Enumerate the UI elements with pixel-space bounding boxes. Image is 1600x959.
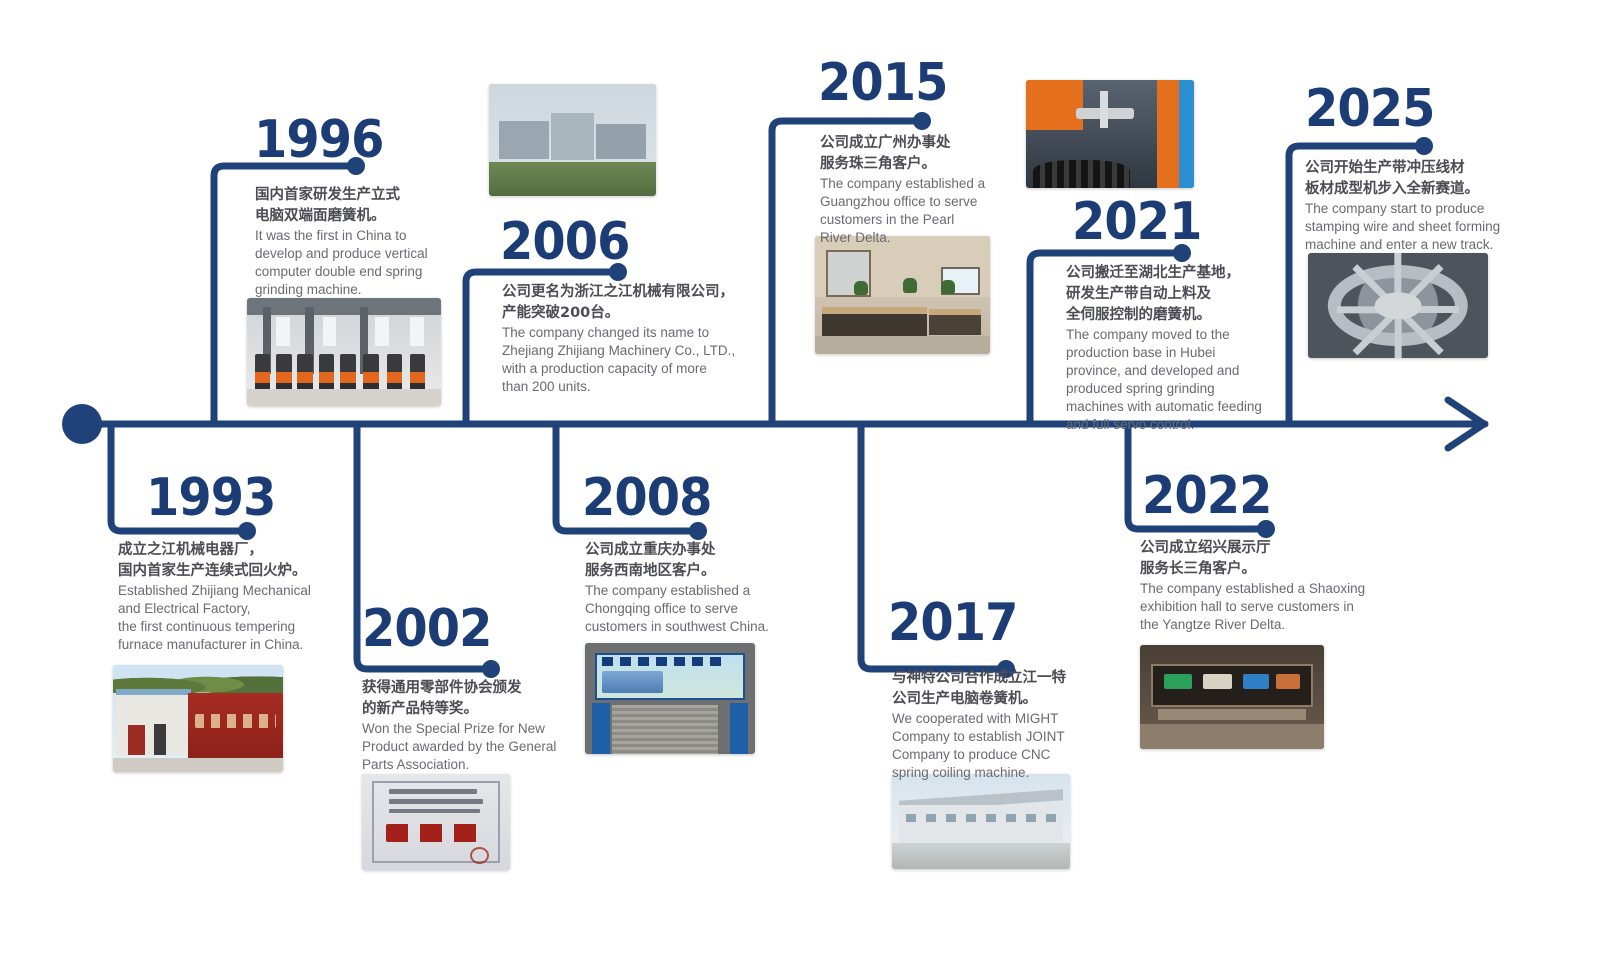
event-cn-2022: 公司成立绍兴展示厅 服务长三角客户。 (1140, 538, 1390, 580)
event-cn-2025: 公司开始生产带冲压线材 板材成型机步入全新赛道。 (1305, 158, 1520, 200)
year-label-1996: 1996 (254, 114, 383, 166)
event-en-2021: The company moved to the production base… (1066, 326, 1284, 434)
photo-2015-guangzhou-office (815, 236, 990, 354)
event-en-1996: It was the first in China to develop and… (255, 227, 455, 299)
year-label-2002: 2002 (362, 603, 491, 655)
timeline-start-dot (62, 404, 102, 444)
event-cn-1996: 国内首家研发生产立式 电脑双端面磨簧机。 (255, 185, 455, 227)
event-text-1993: 成立之江机械电器厂， 国内首家生产连续式回火炉。 Established Zhi… (118, 540, 328, 654)
year-label-1993: 1993 (146, 472, 275, 524)
year-label-2022: 2022 (1142, 470, 1271, 522)
year-label-2008: 2008 (582, 472, 711, 524)
year-label-2021: 2021 (1072, 196, 1201, 248)
node-dot-2002 (482, 660, 500, 678)
event-text-2002: 获得通用零部件协会颁发 的新产品特等奖。 Won the Special Pri… (362, 678, 577, 774)
photo-2002-award-certificate (362, 774, 510, 870)
photo-1996-campus-aerial (489, 84, 656, 196)
photo-1996-workshop-floor (247, 298, 441, 406)
event-text-2021: 公司搬迁至湖北生产基地， 研发生产带自动上料及 全伺服控制的磨簧机。 The c… (1066, 263, 1284, 435)
year-label-2006: 2006 (500, 216, 629, 268)
event-text-2006: 公司更名为浙江之江机械有限公司， 产能突破200台。 The company c… (502, 282, 742, 396)
event-text-2017: 与神特公司合作成立江一特 公司生产电脑卷簧机。 We cooperated wi… (892, 668, 1087, 782)
event-en-2022: The company established a Shaoxing exhib… (1140, 580, 1390, 634)
photo-2008-chongqing-office (585, 643, 755, 754)
event-cn-2015: 公司成立广州办事处 服务珠三角客户。 (820, 133, 1010, 175)
photo-2017-joint-factory (892, 774, 1070, 869)
event-en-2008: The company established a Chongqing offi… (585, 582, 790, 636)
event-text-2025: 公司开始生产带冲压线材 板材成型机步入全新赛道。 The company sta… (1305, 158, 1520, 254)
event-en-2025: The company start to produce stamping wi… (1305, 200, 1520, 254)
timeline-infographic: 1996 2006 2015 2021 2025 1993 2002 2008 … (0, 0, 1600, 959)
event-cn-1993: 成立之江机械电器厂， 国内首家生产连续式回火炉。 (118, 540, 328, 582)
photo-2022-shaoxing-showroom (1140, 645, 1324, 749)
year-label-2015: 2015 (818, 57, 947, 109)
event-text-1996: 国内首家研发生产立式 电脑双端面磨簧机。 It was the first in… (255, 185, 455, 299)
event-en-1993: Established Zhijiang Mechanical and Elec… (118, 582, 328, 654)
event-en-2006: The company changed its name to Zhejiang… (502, 324, 742, 396)
event-en-2015: The company established a Guangzhou offi… (820, 175, 1010, 247)
event-cn-2002: 获得通用零部件协会颁发 的新产品特等奖。 (362, 678, 577, 720)
event-text-2022: 公司成立绍兴展示厅 服务长三角客户。 The company establish… (1140, 538, 1390, 634)
event-cn-2008: 公司成立重庆办事处 服务西南地区客户。 (585, 540, 790, 582)
event-text-2015: 公司成立广州办事处 服务珠三角客户。 The company establish… (820, 133, 1010, 247)
event-text-2008: 公司成立重庆办事处 服务西南地区客户。 The company establis… (585, 540, 790, 636)
node-dot-2015 (913, 112, 931, 130)
event-cn-2021: 公司搬迁至湖北生产基地， 研发生产带自动上料及 全伺服控制的磨簧机。 (1066, 263, 1284, 326)
photo-2025-cnc-rotary-head (1308, 253, 1488, 358)
event-cn-2006: 公司更名为浙江之江机械有限公司， 产能突破200台。 (502, 282, 742, 324)
year-label-2025: 2025 (1305, 83, 1434, 135)
photo-2021-automatic-feeder (1026, 80, 1194, 188)
event-en-2002: Won the Special Prize for New Product aw… (362, 720, 577, 774)
year-label-2017: 2017 (888, 597, 1017, 649)
event-en-2017: We cooperated with MIGHT Company to esta… (892, 710, 1087, 782)
event-cn-2017: 与神特公司合作成立江一特 公司生产电脑卷簧机。 (892, 668, 1087, 710)
photo-1993-factory-gate (113, 665, 283, 772)
node-dot-2025 (1415, 137, 1433, 155)
